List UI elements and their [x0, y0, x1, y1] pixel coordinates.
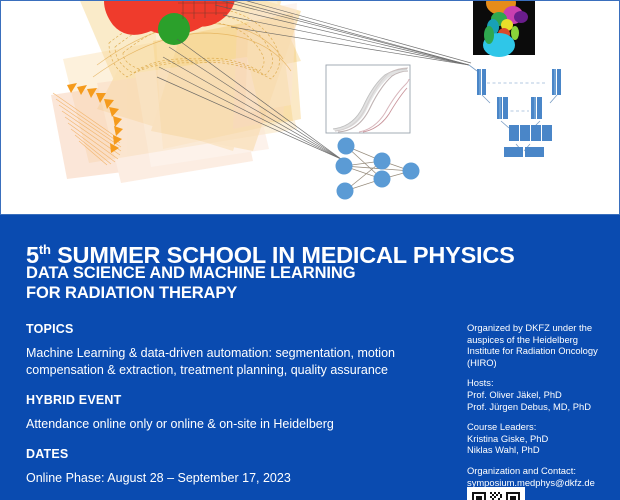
hero-illustration-panel [0, 0, 620, 215]
contact-block: Organization and Contact: symposium.medp… [467, 465, 607, 488]
summer-school-poster: 5th SUMMER SCHOOL IN MEDICAL PHYSICS DAT… [0, 0, 620, 500]
organ-at-risk-marker [158, 13, 190, 45]
organizer-blurb: Organized by DKFZ under the auspices of … [467, 322, 607, 368]
course-leaders-label: Course Leaders: [467, 421, 607, 433]
dose-distribution-illustration [51, 1, 301, 183]
section-body-topics: Machine Learning & data-driven automatio… [26, 345, 446, 378]
section-body-dates: Online Phase: August 28 – September 17, … [26, 470, 446, 487]
hero-graphic [1, 1, 619, 213]
subtitle-line-2: FOR RADIATION THERAPY [26, 283, 476, 303]
hosts-block: Hosts: Prof. Oliver Jäkel, PhD Prof. Jür… [467, 377, 607, 412]
unet-diagram [469, 65, 561, 157]
title-ordinal-suffix: th [39, 242, 51, 257]
host-name-1: Prof. Oliver Jäkel, PhD [467, 389, 607, 401]
poster-body: 5th SUMMER SCHOOL IN MEDICAL PHYSICS DAT… [0, 215, 620, 500]
hosts-label: Hosts: [467, 377, 607, 389]
section-heading-topics: TOPICS [26, 322, 446, 336]
segmented-anatomy-thumbnail [473, 1, 535, 57]
neural-network-graph [336, 138, 420, 200]
course-leader-name-2: Niklas Wahl, PhD [467, 444, 607, 456]
page-subtitle: DATA SCIENCE AND MACHINE LEARNING FOR RA… [26, 263, 476, 303]
dvh-plot [326, 65, 410, 133]
section-body-hybrid-event: Attendance online only or online & on-si… [26, 416, 446, 433]
qr-code-graphic [470, 490, 522, 500]
course-leaders-block: Course Leaders: Kristina Giske, PhD Nikl… [467, 421, 607, 456]
course-leader-name-1: Kristina Giske, PhD [467, 433, 607, 445]
contact-label: Organization and Contact: [467, 465, 607, 477]
section-heading-hybrid-event: HYBRID EVENT [26, 393, 446, 407]
section-heading-dates: DATES [26, 447, 446, 461]
subtitle-line-1: DATA SCIENCE AND MACHINE LEARNING [26, 263, 476, 283]
poster-right-column: Organized by DKFZ under the auspices of … [467, 322, 607, 495]
poster-left-column: TOPICS Machine Learning & data-driven au… [26, 322, 446, 500]
host-name-2: Prof. Jürgen Debus, MD, PhD [467, 401, 607, 413]
qr-code[interactable] [467, 487, 525, 500]
